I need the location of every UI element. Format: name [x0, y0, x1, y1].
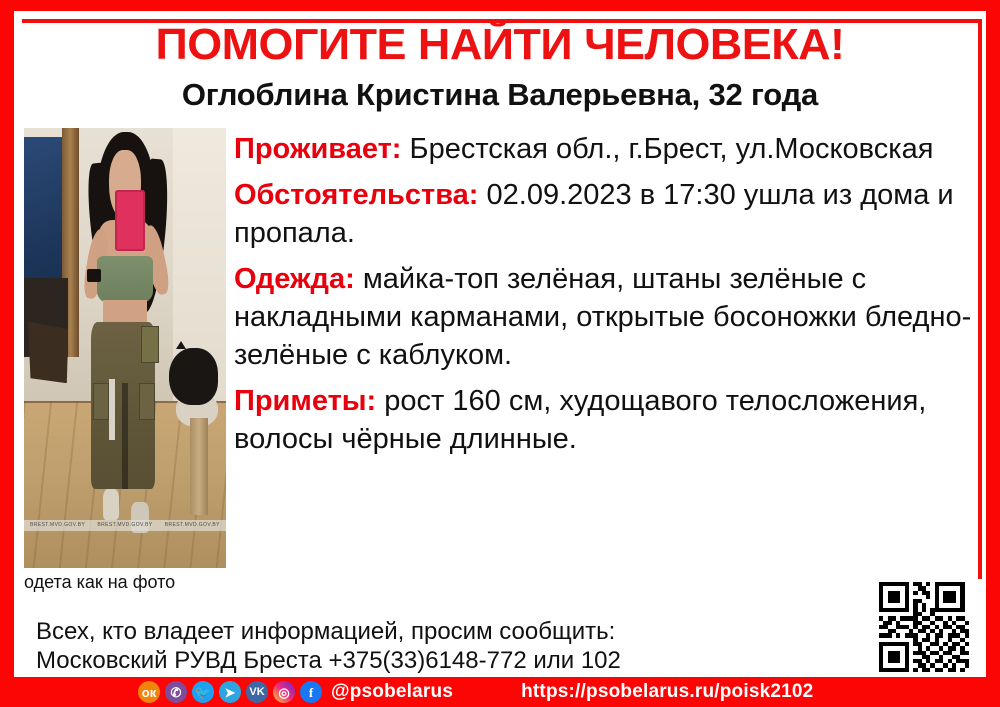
- photo-pants-strap: [109, 379, 115, 441]
- photo-green-crop-top: [97, 256, 154, 304]
- photo-sandal-left: [103, 489, 119, 520]
- detail-features: Приметы: рост 160 см, худощавого телосло…: [234, 382, 972, 458]
- footer-bar: ок✆🐦➤VK◎f @psobelarus https://psobelarus…: [0, 677, 1000, 707]
- photo-scene: BREST.MVD.GOV.BY BREST.MVD.GOV.BY BREST.…: [24, 128, 226, 568]
- instagram-icon[interactable]: ◎: [273, 681, 295, 703]
- detail-circumstances: Обстоятельства: 02.09.2023 в 17:30 ушла …: [234, 176, 972, 252]
- qr-code-grid: [879, 582, 969, 672]
- twitter-icon[interactable]: 🐦: [192, 681, 214, 703]
- details-block: Проживает: Брестская обл., г.Брест, ул.М…: [234, 130, 972, 458]
- photo-cat-tree-post: [190, 418, 208, 515]
- photo-cat-ear: [176, 341, 186, 349]
- photo-knee-pocket-left: [93, 383, 109, 420]
- photo-pants-leg-gap: [122, 383, 128, 489]
- detail-clothing: Одежда: майка-топ зелёная, штаны зелёные…: [234, 260, 972, 374]
- qr-code[interactable]: [876, 579, 972, 675]
- inner-frame-right-rule: [978, 19, 982, 579]
- missing-person-poster: ПОМОГИТЕ НАЙТИ ЧЕЛОВЕКА! Оглоблина Крист…: [0, 0, 1000, 707]
- photo-watermark-text-2: BREST.MVD.GOV.BY: [97, 522, 152, 528]
- vkontakte-icon[interactable]: VK: [246, 681, 268, 703]
- photo-wrist-watch: [87, 269, 101, 282]
- frame-top-border: [0, 0, 1000, 11]
- frame-left-border: [0, 0, 14, 677]
- poster-headline: ПОМОГИТЕ НАЙТИ ЧЕЛОВЕКА!: [14, 19, 985, 71]
- appeal-line-1: Всех, кто владеет информацией, просим со…: [36, 617, 621, 646]
- person-name-age: Оглоблина Кристина Валерьевна, 32 года: [24, 76, 976, 114]
- residence-value: Брестская обл., г.Брест, ул.Московская: [410, 133, 934, 165]
- features-label: Приметы:: [234, 385, 376, 417]
- photo-watermark-text-3: BREST.MVD.GOV.BY: [165, 522, 220, 528]
- photo-pink-phone: [115, 190, 145, 252]
- poster-url[interactable]: https://psobelarus.ru/poisk2102: [521, 681, 813, 703]
- clothing-label: Одежда:: [234, 263, 355, 295]
- frame-right-border: [986, 0, 1000, 677]
- facebook-icon[interactable]: f: [300, 681, 322, 703]
- qr-module: [965, 668, 969, 672]
- social-icons: ок✆🐦➤VK◎f: [138, 681, 322, 703]
- circumstances-label: Обстоятельства:: [234, 179, 478, 211]
- photo-watermark: BREST.MVD.GOV.BY BREST.MVD.GOV.BY BREST.…: [24, 520, 226, 531]
- appeal-block: Всех, кто владеет информацией, просим со…: [36, 617, 621, 675]
- photo-chair: [28, 322, 68, 384]
- odnoklassniki-icon[interactable]: ок: [138, 681, 160, 703]
- residence-label: Проживает:: [234, 133, 401, 165]
- photo-hip-pocket: [141, 326, 159, 363]
- viber-icon[interactable]: ✆: [165, 681, 187, 703]
- appeal-line-2: Московский РУВД Бреста +375(33)6148-772 …: [36, 646, 621, 675]
- photo-caption: одета как на фото: [24, 572, 175, 593]
- photo-watermark-text-1: BREST.MVD.GOV.BY: [30, 522, 85, 528]
- person-photo: BREST.MVD.GOV.BY BREST.MVD.GOV.BY BREST.…: [24, 128, 226, 568]
- telegram-icon[interactable]: ➤: [219, 681, 241, 703]
- photo-black-cat: [169, 348, 217, 405]
- social-handle[interactable]: @psobelarus: [331, 681, 453, 703]
- photo-knee-pocket-right: [139, 383, 155, 420]
- detail-residence: Проживает: Брестская обл., г.Брест, ул.М…: [234, 130, 972, 168]
